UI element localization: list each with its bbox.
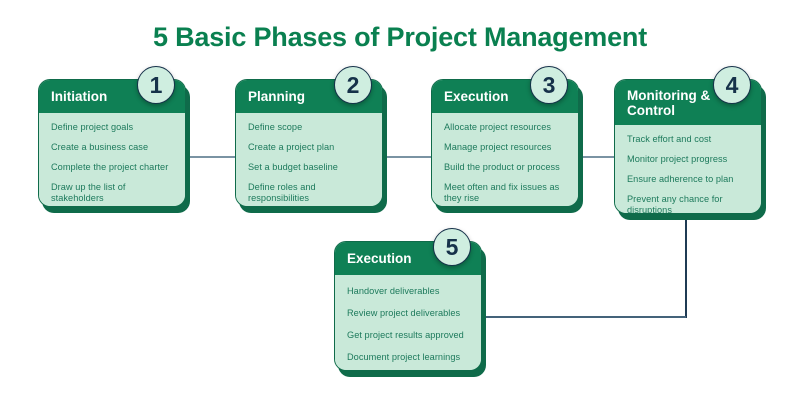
- list-item: Complete the project charter: [51, 162, 173, 173]
- page-title: 5 Basic Phases of Project Management: [0, 22, 800, 53]
- list-item: Allocate project resources: [444, 122, 566, 133]
- connector-2-to-3: [382, 156, 434, 158]
- phase-body-3: Allocate project resources Manage projec…: [432, 113, 578, 207]
- connector-4-down: [685, 214, 687, 318]
- phase-badge-5: 5: [433, 228, 471, 266]
- list-item: Create a project plan: [248, 142, 370, 153]
- list-item: Define project goals: [51, 122, 173, 133]
- diagram-canvas: 5 Basic Phases of Project Management Ini…: [0, 0, 800, 400]
- phase-badge-3: 3: [530, 66, 568, 104]
- list-item: Draw up the list of stakeholders: [51, 182, 173, 204]
- list-item: Handover deliverables: [347, 286, 469, 297]
- list-item: Review project deliverables: [347, 308, 469, 319]
- phase-body-2: Define scope Create a project plan Set a…: [236, 113, 382, 207]
- connector-to-5: [484, 316, 686, 318]
- list-item: Prevent any chance for disruptions: [627, 194, 737, 214]
- list-item: Create a business case: [51, 142, 173, 153]
- list-item: Track effort and cost: [627, 134, 749, 145]
- list-item: Get project results approved: [347, 330, 469, 341]
- list-item: Document project learnings: [347, 352, 469, 363]
- connector-1-to-2: [186, 156, 238, 158]
- phase-badge-2: 2: [334, 66, 372, 104]
- phase-badge-1: 1: [137, 66, 175, 104]
- phase-body-1: Define project goals Create a business c…: [39, 113, 185, 207]
- list-item: Set a budget baseline: [248, 162, 370, 173]
- list-item: Define scope: [248, 122, 370, 133]
- list-item: Define roles and responsibilities: [248, 182, 370, 204]
- list-item: Meet often and fix issues as they rise: [444, 182, 566, 204]
- list-item: Manage project resources: [444, 142, 566, 153]
- list-item: Monitor project progress: [627, 154, 749, 165]
- phase-body-5: Handover deliverables Review project del…: [335, 275, 481, 371]
- list-item: Build the product or process: [444, 162, 566, 173]
- phase-badge-4: 4: [713, 66, 751, 104]
- list-item: Ensure adherence to plan: [627, 174, 749, 185]
- phase-body-4: Track effort and cost Monitor project pr…: [615, 125, 761, 214]
